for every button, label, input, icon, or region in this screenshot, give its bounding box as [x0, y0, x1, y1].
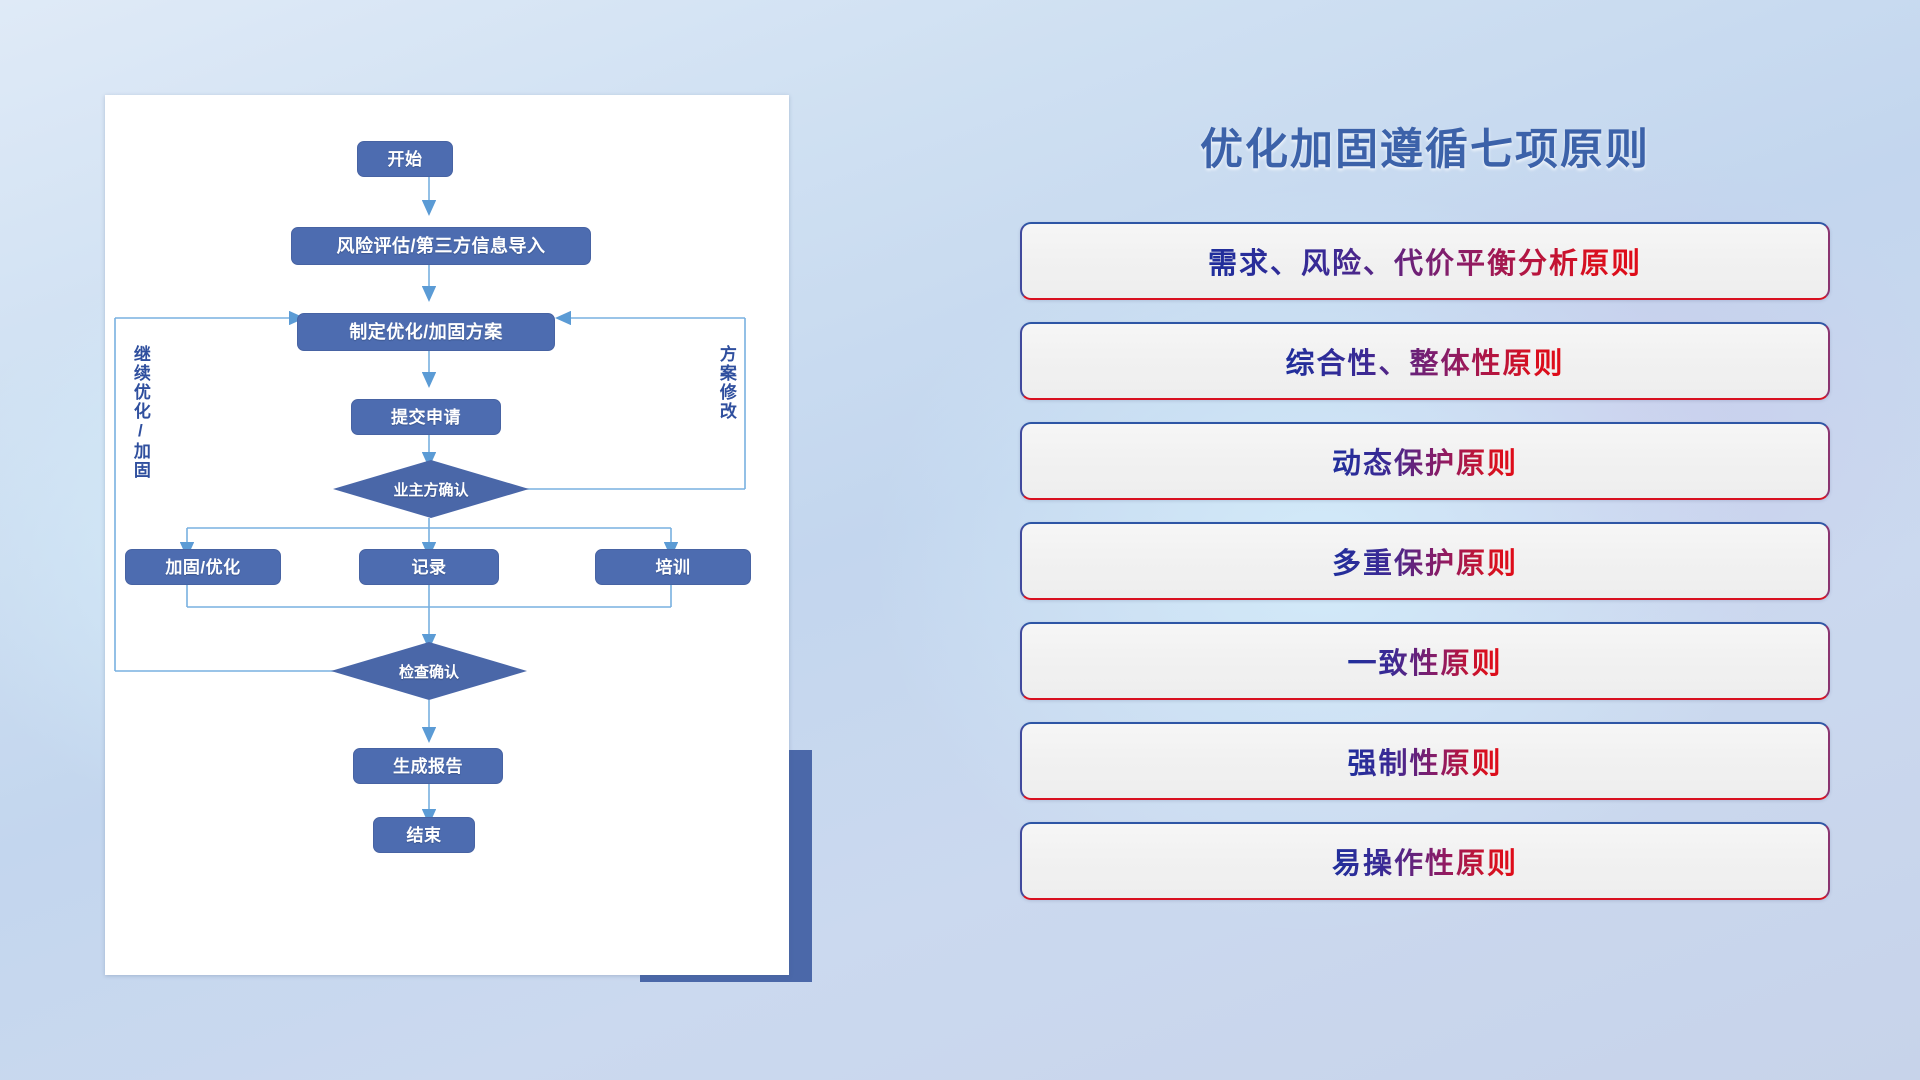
principle-item-4[interactable]: 多重保护原则: [1020, 522, 1830, 600]
principles-panel: 优化加固遵循七项原则 需求、风险、代价平衡分析原则 综合性、整体性原则 动态保护…: [1020, 95, 1830, 995]
principle-label: 动态保护原则: [1332, 440, 1518, 482]
principle-label: 综合性、整体性原则: [1285, 340, 1564, 382]
principle-item-3[interactable]: 动态保护原则: [1020, 422, 1830, 500]
principle-label: 一致性原则: [1347, 640, 1502, 682]
flow-node-generate-report[interactable]: 生成报告: [353, 748, 503, 784]
flow-node-training[interactable]: 培训: [595, 549, 751, 585]
edge-label-continue-optimize: 继续优化/加固: [131, 345, 149, 525]
principle-item-2[interactable]: 综合性、整体性原则: [1020, 322, 1830, 400]
principle-item-5[interactable]: 一致性原则: [1020, 622, 1830, 700]
principle-label: 多重保护原则: [1332, 540, 1518, 582]
flow-node-record[interactable]: 记录: [359, 549, 499, 585]
flow-node-end[interactable]: 结束: [373, 817, 475, 853]
edge-label-plan-revision: 方案修改: [717, 345, 735, 475]
principles-list: 需求、风险、代价平衡分析原则 综合性、整体性原则 动态保护原则 多重保护原则 一…: [1020, 222, 1830, 922]
principle-label: 强制性原则: [1347, 740, 1502, 782]
flowchart: 开始 风险评估/第三方信息导入 制定优化/加固方案 提交申请 业主方确认 加固/…: [105, 95, 789, 975]
principle-item-7[interactable]: 易操作性原则: [1020, 822, 1830, 900]
principle-item-1[interactable]: 需求、风险、代价平衡分析原则: [1020, 222, 1830, 300]
flowchart-card: 开始 风险评估/第三方信息导入 制定优化/加固方案 提交申请 业主方确认 加固/…: [105, 95, 789, 975]
principle-label: 需求、风险、代价平衡分析原则: [1208, 240, 1642, 282]
flow-node-start[interactable]: 开始: [357, 141, 453, 177]
flow-node-submit-application[interactable]: 提交申请: [351, 399, 501, 435]
page-title: 优化加固遵循七项原则: [1020, 115, 1830, 177]
principle-label: 易操作性原则: [1332, 840, 1518, 882]
flow-node-risk-assessment[interactable]: 风险评估/第三方信息导入: [291, 227, 591, 265]
flow-node-reinforce-optimize[interactable]: 加固/优化: [125, 549, 281, 585]
principle-item-6[interactable]: 强制性原则: [1020, 722, 1830, 800]
flow-node-plan[interactable]: 制定优化/加固方案: [297, 313, 555, 351]
